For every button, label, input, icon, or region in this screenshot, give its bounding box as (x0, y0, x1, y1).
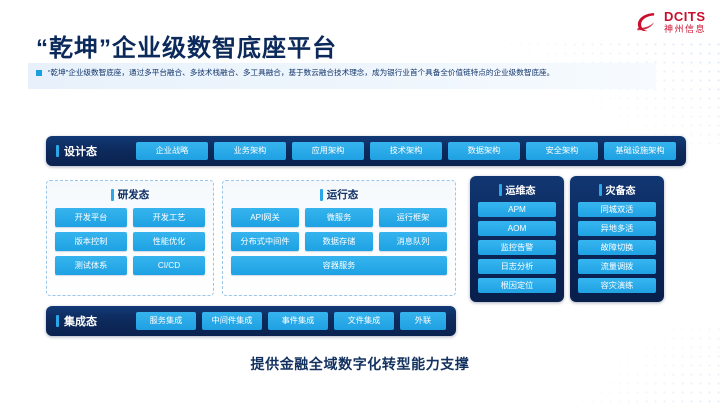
cell-run-1-0[interactable]: 分布式中间件 (231, 232, 299, 251)
cell-ops-4[interactable]: 根因定位 (478, 278, 556, 293)
dr-state-panel: 灾备态 同城双活 异地多活 故障切换 流量调拨 容灾演练 (570, 176, 664, 302)
run-state-panel: 运行态 API网关 微服务 运行框架 分布式中间件 数据存储 消息队列 容器服务 (222, 180, 456, 296)
cell-ops-2[interactable]: 监控告警 (478, 240, 556, 255)
ops-state-panel: 运维态 APM AOM 监控告警 日志分析 根因定位 (470, 176, 564, 302)
dev-row: 开发平台 开发工艺 (55, 208, 205, 227)
accent-bar-icon (499, 184, 502, 196)
ops-state-title-text: 运维态 (506, 182, 536, 197)
chip-design-6[interactable]: 基础设施架构 (604, 142, 676, 160)
chip-design-1[interactable]: 业务架构 (214, 142, 286, 160)
accent-bar-icon (56, 145, 59, 157)
chip-integration-4[interactable]: 外联 (400, 312, 446, 330)
cell-dev-2-0[interactable]: 测试体系 (55, 256, 127, 275)
integration-state-band: 集成态 服务集成 中间件集成 事件集成 文件集成 外联 (46, 306, 456, 336)
architecture-board: 设计态 企业战略 业务架构 应用架构 技术架构 数据架构 安全架构 基础设施架构… (46, 136, 686, 341)
cell-dev-1-0[interactable]: 版本控制 (55, 232, 127, 251)
cell-dr-0[interactable]: 同城双活 (578, 202, 656, 217)
logo-text-en: DCITS (664, 10, 706, 23)
cell-dev-2-1[interactable]: CI/CD (133, 256, 205, 275)
chip-design-4[interactable]: 数据架构 (448, 142, 520, 160)
dev-state-title: 研发态 (55, 187, 205, 202)
chip-design-5[interactable]: 安全架构 (526, 142, 598, 160)
subtitle: “乾坤”企业级数智底座，通过多平台融合、多技术栈融合、多工具融合，基于数云融合技… (36, 68, 656, 78)
accent-bar-icon (320, 189, 323, 201)
chip-integration-2[interactable]: 事件集成 (268, 312, 328, 330)
logo-text-cn: 神州信息 (664, 25, 706, 34)
subtitle-text: “乾坤”企业级数智底座，通过多平台融合、多技术栈融合、多工具融合，基于数云融合技… (48, 68, 554, 78)
cell-dev-0-1[interactable]: 开发工艺 (133, 208, 205, 227)
chip-integration-0[interactable]: 服务集成 (136, 312, 196, 330)
page-title: “乾坤”企业级数智底座平台 (36, 28, 337, 63)
cell-run-0-0[interactable]: API网关 (231, 208, 299, 227)
cell-run-1-2[interactable]: 消息队列 (379, 232, 447, 251)
run-state-grid: API网关 微服务 运行框架 分布式中间件 数据存储 消息队列 容器服务 (231, 208, 447, 275)
run-state-title: 运行态 (231, 187, 447, 202)
dcits-swirl-logo-icon (633, 9, 659, 35)
design-state-label: 设计态 (46, 143, 136, 159)
chip-design-0[interactable]: 企业战略 (136, 142, 208, 160)
chip-design-3[interactable]: 技术架构 (370, 142, 442, 160)
dr-state-title: 灾备态 (578, 182, 656, 197)
cell-dr-4[interactable]: 容灾演练 (578, 278, 656, 293)
cell-dr-1[interactable]: 异地多活 (578, 221, 656, 236)
dr-state-list: 同城双活 异地多活 故障切换 流量调拨 容灾演练 (578, 202, 656, 293)
accent-bar-icon (599, 184, 602, 196)
dev-row: 测试体系 CI/CD (55, 256, 205, 275)
dev-state-panel: 研发态 开发平台 开发工艺 版本控制 性能优化 测试体系 CI/CD (46, 180, 214, 296)
dr-state-title-text: 灾备态 (606, 182, 636, 197)
run-row: 分布式中间件 数据存储 消息队列 (231, 232, 447, 251)
integration-state-label-text: 集成态 (64, 313, 97, 329)
design-state-band: 设计态 企业战略 业务架构 应用架构 技术架构 数据架构 安全架构 基础设施架构 (46, 136, 686, 166)
cell-ops-1[interactable]: AOM (478, 221, 556, 236)
cell-run-0-1[interactable]: 微服务 (305, 208, 373, 227)
run-row: 容器服务 (231, 256, 447, 275)
cell-run-2-0[interactable]: 容器服务 (231, 256, 447, 275)
brand-logo: DCITS 神州信息 (633, 9, 706, 35)
design-state-label-text: 设计态 (64, 143, 97, 159)
design-state-chips: 企业战略 业务架构 应用架构 技术架构 数据架构 安全架构 基础设施架构 (136, 142, 686, 160)
cell-dev-0-0[interactable]: 开发平台 (55, 208, 127, 227)
cell-ops-0[interactable]: APM (478, 202, 556, 217)
accent-bar-icon (111, 189, 114, 201)
cell-run-1-1[interactable]: 数据存储 (305, 232, 373, 251)
square-bullet-icon (36, 70, 42, 76)
accent-bar-icon (56, 315, 59, 327)
ops-state-list: APM AOM 监控告警 日志分析 根因定位 (478, 202, 556, 293)
dev-state-title-text: 研发态 (118, 187, 150, 202)
run-state-title-text: 运行态 (327, 187, 359, 202)
chip-design-2[interactable]: 应用架构 (292, 142, 364, 160)
decorative-dot-pattern-top (480, 40, 720, 150)
dev-row: 版本控制 性能优化 (55, 232, 205, 251)
run-row: API网关 微服务 运行框架 (231, 208, 447, 227)
cell-dr-2[interactable]: 故障切换 (578, 240, 656, 255)
ops-state-title: 运维态 (478, 182, 556, 197)
cell-run-0-2[interactable]: 运行框架 (379, 208, 447, 227)
integration-state-chips: 服务集成 中间件集成 事件集成 文件集成 外联 (136, 312, 456, 330)
integration-state-label: 集成态 (46, 313, 136, 329)
chip-integration-1[interactable]: 中间件集成 (202, 312, 262, 330)
chip-integration-3[interactable]: 文件集成 (334, 312, 394, 330)
footer-caption: 提供金融全域数字化转型能力支撑 (0, 354, 720, 374)
cell-dr-3[interactable]: 流量调拨 (578, 259, 656, 274)
slide-canvas: DCITS 神州信息 “乾坤”企业级数智底座平台 “乾坤”企业级数智底座，通过多… (0, 0, 720, 405)
cell-dev-1-1[interactable]: 性能优化 (133, 232, 205, 251)
cell-ops-3[interactable]: 日志分析 (478, 259, 556, 274)
dev-state-grid: 开发平台 开发工艺 版本控制 性能优化 测试体系 CI/CD (55, 208, 205, 275)
